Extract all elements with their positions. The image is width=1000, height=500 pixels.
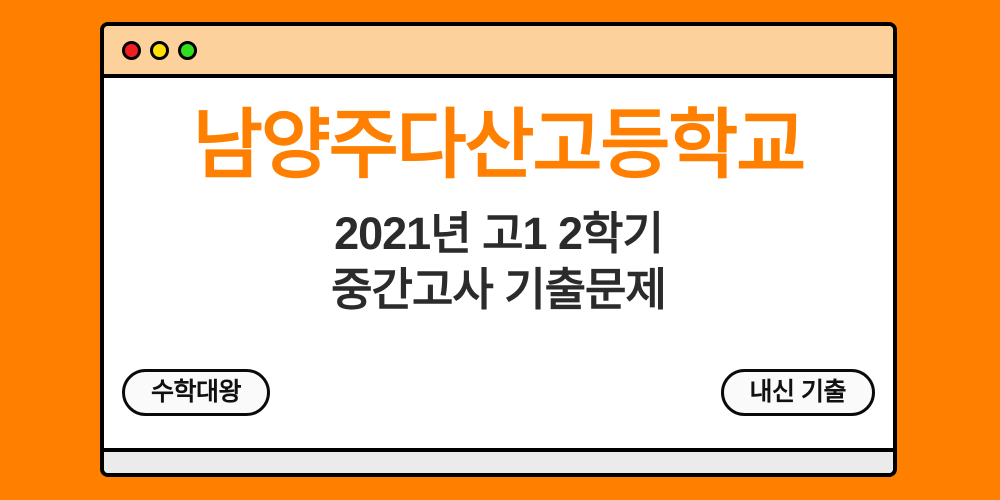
- exam-subtitle-block: 2021년 고1 2학기 중간고사 기출문제: [331, 206, 666, 318]
- window-titlebar: [104, 26, 893, 78]
- exam-term-line: 2021년 고1 2학기: [331, 206, 666, 262]
- badge-category: 내신 기출: [721, 369, 875, 416]
- badge-brand: 수학대왕: [122, 369, 270, 416]
- poster-canvas: 남양주다산고등학교 2021년 고1 2학기 중간고사 기출문제 수학대왕 내신…: [0, 0, 1000, 500]
- badge-row: 수학대왕 내신 기출: [104, 369, 893, 416]
- maximize-button-icon[interactable]: [178, 41, 197, 60]
- exam-type-line: 중간고사 기출문제: [331, 262, 666, 318]
- window-content: 남양주다산고등학교 2021년 고1 2학기 중간고사 기출문제 수학대왕 내신…: [104, 78, 893, 448]
- traffic-light-group: [122, 41, 197, 60]
- school-name-heading: 남양주다산고등학교: [193, 108, 804, 184]
- app-window: 남양주다산고등학교 2021년 고1 2학기 중간고사 기출문제 수학대왕 내신…: [100, 22, 897, 477]
- close-button-icon[interactable]: [122, 41, 141, 60]
- window-statusbar: [104, 448, 893, 473]
- minimize-button-icon[interactable]: [150, 41, 169, 60]
